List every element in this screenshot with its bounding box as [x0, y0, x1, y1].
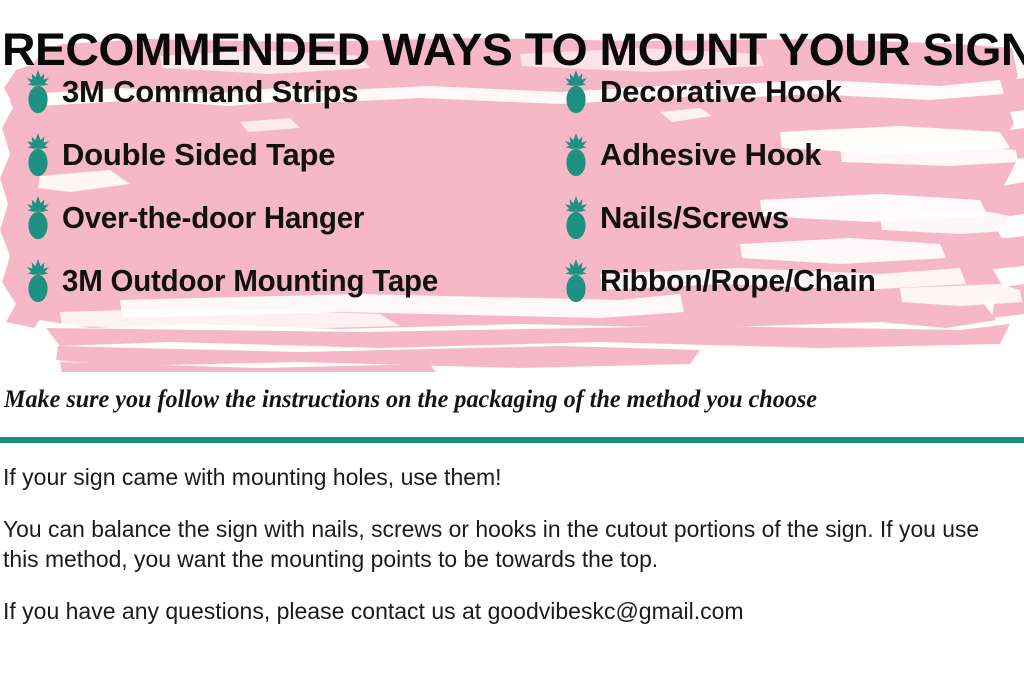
pineapple-icon	[562, 196, 590, 240]
pineapple-icon	[24, 196, 52, 240]
pineapple-icon	[24, 133, 52, 177]
list-item: 3M Outdoor Mounting Tape	[24, 249, 554, 312]
pineapple-icon	[562, 259, 590, 303]
method-label: Decorative Hook	[600, 74, 842, 110]
method-label: Ribbon/Rope/Chain	[600, 263, 876, 299]
page-title: RECOMMENDED WAYS TO MOUNT YOUR SIGN	[2, 26, 1024, 74]
list-item: Nails/Screws	[562, 186, 1022, 249]
method-label: Double Sided Tape	[62, 137, 335, 173]
pineapple-icon	[24, 70, 52, 114]
method-label: Adhesive Hook	[600, 137, 821, 173]
list-item: Double Sided Tape	[24, 123, 554, 186]
method-label: Nails/Screws	[600, 200, 789, 236]
methods-right-column: Decorative Hook Adhesive Hook	[562, 60, 1022, 312]
paragraph-mounting-holes: If your sign came with mounting holes, u…	[3, 462, 1015, 492]
list-item: Adhesive Hook	[562, 123, 1022, 186]
method-label: 3M Outdoor Mounting Tape	[62, 263, 438, 299]
body-copy: If your sign came with mounting holes, u…	[3, 462, 1015, 626]
mounting-methods-list: 3M Command Strips Double Sided Tape	[0, 60, 1024, 330]
pineapple-icon	[562, 70, 590, 114]
teal-divider	[0, 430, 1024, 436]
pineapple-icon	[24, 259, 52, 303]
method-label: Over-the-door Hanger	[62, 200, 364, 236]
method-label: 3M Command Strips	[62, 74, 358, 110]
methods-left-column: 3M Command Strips Double Sided Tape	[24, 60, 554, 312]
pineapple-icon	[562, 133, 590, 177]
list-item: Over-the-door Hanger	[24, 186, 554, 249]
paragraph-contact: If you have any questions, please contac…	[3, 596, 1015, 626]
infographic-page: RECOMMENDED WAYS TO MOUNT YOUR SIGN 3M C…	[0, 0, 1024, 683]
instructions-note: Make sure you follow the instructions on…	[4, 386, 984, 414]
list-item: Ribbon/Rope/Chain	[562, 249, 1022, 312]
paragraph-balance-sign: You can balance the sign with nails, scr…	[3, 514, 1010, 574]
